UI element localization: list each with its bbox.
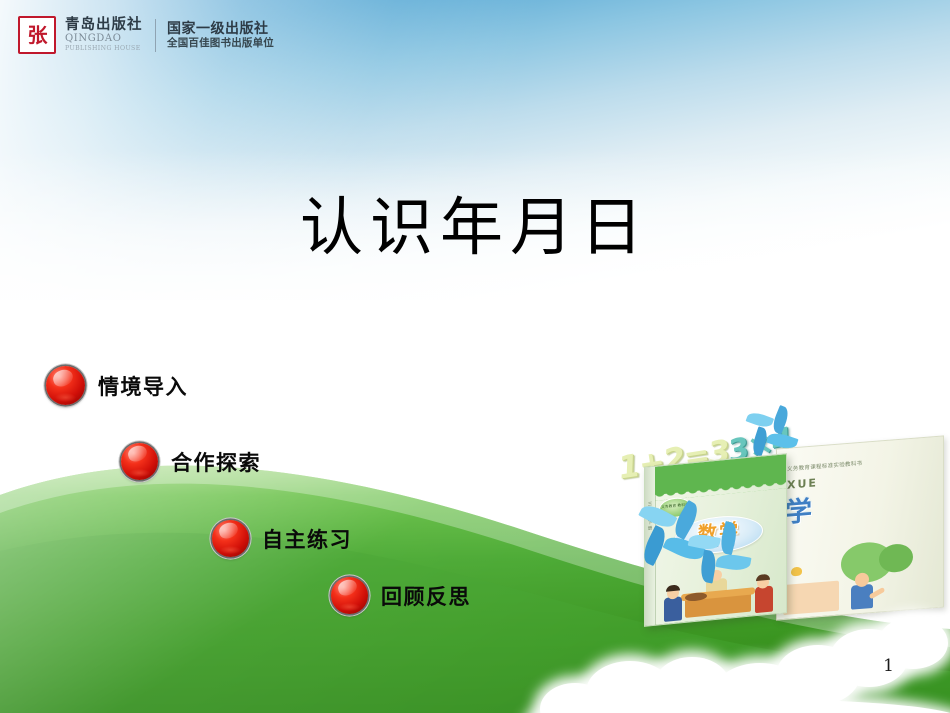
- agenda-item-zizhu-lianxi[interactable]: 自主练习: [212, 520, 352, 557]
- back-book-han: 学: [785, 489, 812, 530]
- back-book-tree-2: [879, 543, 913, 574]
- back-book-top-note: 义务教育课程标准实验教科书: [787, 459, 862, 473]
- agenda-item-label: 自主练习: [262, 524, 352, 554]
- red-sphere-bullet-icon: [212, 520, 249, 557]
- agenda-item-label: 情境导入: [98, 371, 188, 401]
- red-sphere-bullet-icon: [331, 577, 368, 614]
- agenda-item-hezuo-tansuo[interactable]: 合作探索: [121, 443, 261, 480]
- publisher-name-block: 青岛出版社 QINGDAO PUBLISHING HOUSE: [65, 18, 143, 52]
- publisher-name-cn: 青岛出版社: [65, 18, 143, 33]
- credential-line-2: 全国百佳图书出版单位: [167, 37, 274, 50]
- page-title: 认识年月日: [0, 192, 950, 264]
- red-sphere-bullet-icon: [121, 443, 158, 480]
- publisher-logo-bar: 张 青岛出版社 QINGDAO PUBLISHING HOUSE 国家一级出版社…: [18, 14, 274, 56]
- agenda-item-qingjing-daoru[interactable]: 情境导入: [46, 366, 188, 405]
- agenda-item-label: 回顾反思: [381, 581, 471, 611]
- slide-canvas: 张 青岛出版社 QINGDAO PUBLISHING HOUSE 国家一级出版社…: [0, 0, 950, 713]
- publisher-name-en-sub: PUBLISHING HOUSE: [65, 45, 143, 52]
- agenda-item-huigu-fansi[interactable]: 回顾反思: [331, 577, 471, 614]
- credential-line-1: 国家一级出版社: [167, 20, 274, 38]
- publisher-seal-glyph: 张: [20, 25, 54, 45]
- front-book-child-left-body: [664, 596, 682, 622]
- page-number: 1: [883, 656, 894, 676]
- back-book-bird: [791, 567, 802, 577]
- back-book-wall: [783, 581, 839, 615]
- back-book-illustration: [783, 531, 935, 615]
- agenda-item-label: 合作探索: [171, 447, 261, 477]
- publisher-credentials: 国家一级出版社 全国百佳图书出版单位: [167, 20, 274, 51]
- publisher-name-en: QINGDAO: [65, 33, 143, 45]
- back-textbook: 义务教育课程标准实验教科书 XUE 学: [776, 435, 944, 620]
- logo-divider: [155, 19, 157, 52]
- front-book-child-right-body: [755, 585, 773, 613]
- textbook-illustration: 1+2=3 3×4 义务教育课程标准实验教科书 XUE 学: [600, 420, 950, 620]
- red-sphere-bullet-icon: [46, 366, 85, 405]
- publisher-seal-icon: 张: [18, 16, 56, 54]
